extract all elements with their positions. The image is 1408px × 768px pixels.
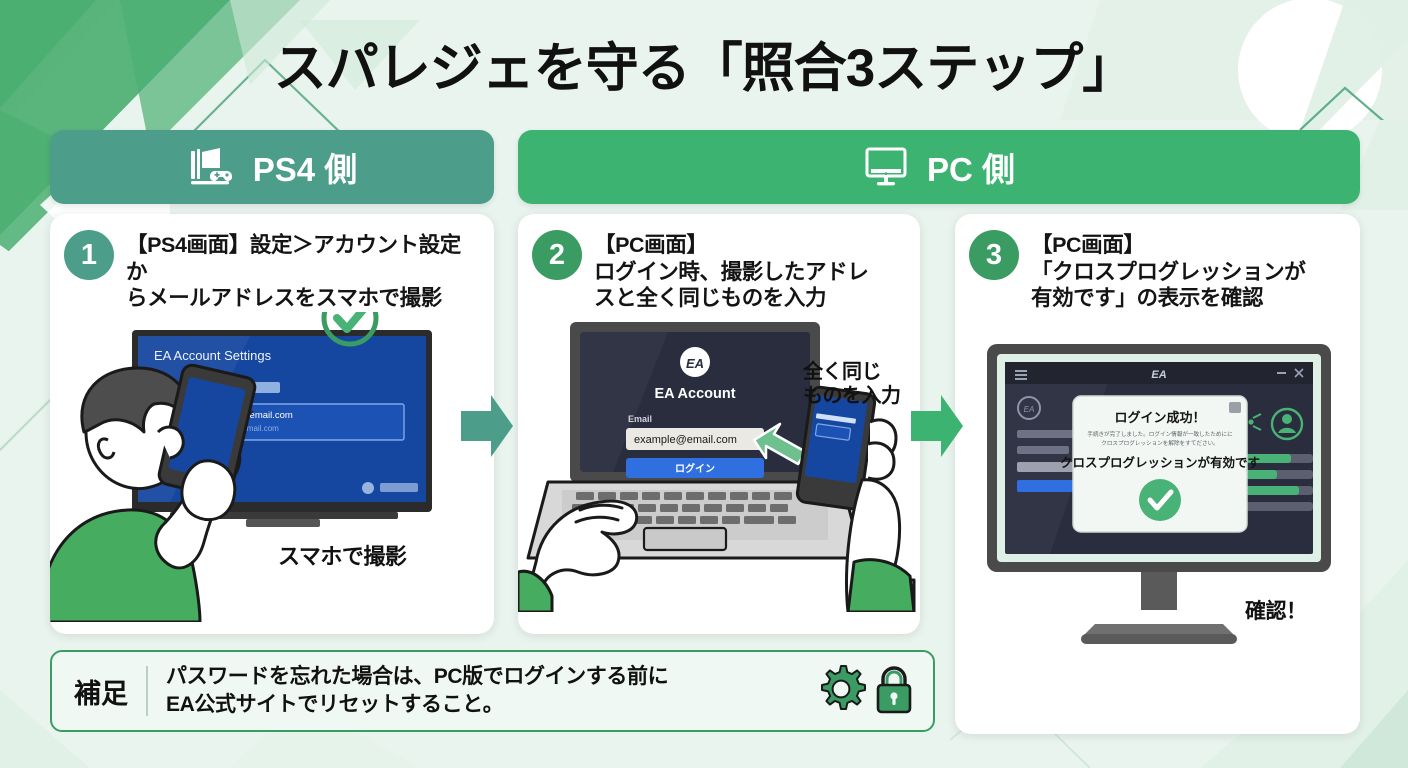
step-2-number: 2: [532, 230, 582, 280]
playstation-console-icon: [187, 145, 235, 189]
section-header-ps4: PS4 側: [50, 130, 494, 204]
dialog-title: ログイン成功！: [1114, 410, 1205, 425]
section-header-ps4-label: PS4 側: [253, 143, 358, 191]
note-body: パスワードを忘れた場合は、PC版でログインする前に EA公式サイトでリセットする…: [148, 663, 815, 718]
gear-icon: [815, 663, 867, 720]
step-3-header: 3 【PC画面】 「クロスプログレッションが 有効です」の表示を確認: [955, 214, 1360, 312]
dialog-body-line2: クロスプログレッションを解除をすてださい。: [1101, 439, 1219, 447]
step-1-callout: スマホで撮影: [278, 544, 406, 570]
laptop-login-button-label: ログイン: [675, 462, 715, 475]
step-card-3: 3 【PC画面】 「クロスプログレッションが 有効です」の表示を確認 EA EA: [955, 214, 1360, 734]
step-2-header: 2 【PC画面】 ログイン時、撮影したアドレ スと全く同じものを入力: [518, 214, 920, 312]
step-2-text: 【PC画面】 ログイン時、撮影したアドレ スと全く同じものを入力: [594, 230, 868, 312]
dialog-body-line1: 手続きが完了しました。ログイン情報が一致したためにに: [1087, 430, 1233, 438]
desktop-monitor-icon: [863, 145, 909, 189]
step-3-illustration: EA EA ログイン成功！: [955, 312, 1360, 717]
step-3-number: 3: [969, 230, 1019, 280]
step-2-illustration: EA EA Account Email example@email.com ログ…: [518, 312, 920, 617]
page-title: スパレジェを守る「照合3ステップ」: [0, 26, 1408, 102]
arrow-step2-to-step3: [909, 393, 965, 464]
step-1-text: 【PS4画面】設定＞アカウント設定か らメールアドレスをスマホで撮影: [126, 230, 480, 312]
step-1-header: 1 【PS4画面】設定＞アカウント設定か らメールアドレスをスマホで撮影: [50, 214, 494, 312]
step-2-callout: 全く同じ ものを入力: [803, 361, 901, 408]
laptop-email-label: Email: [628, 414, 652, 424]
step-1-number: 1: [64, 230, 114, 280]
step-1-illustration: EA Account Settings example@email.com ex…: [50, 312, 494, 627]
step-3-callout: 確認！: [1245, 600, 1307, 625]
laptop-screen-heading: EA Account: [654, 386, 735, 402]
supplement-note: 補足 パスワードを忘れた場合は、PC版でログインする前に EA公式サイトでリセッ…: [50, 650, 935, 732]
step-card-1: 1 【PS4画面】設定＞アカウント設定か らメールアドレスをスマホで撮影 EA …: [50, 214, 494, 634]
arrow-step1-to-step2: [459, 393, 515, 464]
laptop-email-value: example@email.com: [634, 434, 737, 446]
step-card-2: 2 【PC画面】 ログイン時、撮影したアドレ スと全く同じものを入力 EA EA…: [518, 214, 920, 634]
ea-brand-mark: EA: [686, 356, 704, 371]
monitor-app-brand: EA: [1151, 369, 1166, 381]
note-label: 補足: [52, 672, 146, 711]
ps4-screen-heading: EA Account Settings: [154, 348, 272, 363]
svg-text:EA: EA: [1024, 405, 1035, 414]
dialog-highlight: クロスプログレッションが有効です: [1060, 455, 1260, 470]
lock-icon: [873, 663, 915, 720]
section-header-pc: PC 側: [518, 130, 1360, 204]
section-header-pc-label: PC 側: [927, 143, 1015, 191]
step-3-text: 【PC画面】 「クロスプログレッションが 有効です」の表示を確認: [1031, 230, 1305, 312]
note-icons: [815, 663, 933, 720]
